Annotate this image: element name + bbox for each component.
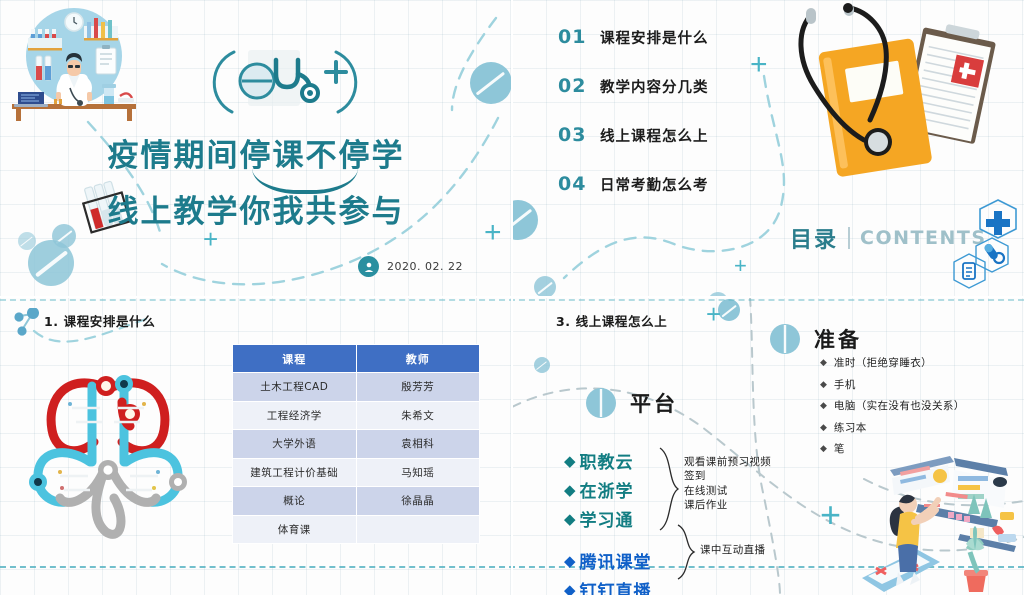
brace-group-b <box>676 523 698 581</box>
diamond-bullet-icon: ◆ <box>564 581 576 595</box>
platform-item[interactable]: ◆ 腾讯课堂 <box>564 546 652 575</box>
orange-book-clipboard-stethoscope-illustration <box>790 2 1002 200</box>
cell-teacher: 朱希文 <box>356 401 479 430</box>
prepare-item-label: 电脑（实在没有也没关系） <box>834 398 965 413</box>
contents-item-number: 02 <box>558 75 600 97</box>
platform-item[interactable]: ◆ 职教云 <box>564 446 652 475</box>
prepare-item-label: 笔 <box>834 441 845 456</box>
table-row: 土木工程CAD 殷芳芳 <box>233 373 480 402</box>
pill-decor <box>534 357 550 373</box>
pill-decor <box>718 299 740 321</box>
cell-teacher: 殷芳芳 <box>356 373 479 402</box>
cell-teacher: 袁相科 <box>356 430 479 459</box>
table-header-teacher: 教师 <box>356 345 479 373</box>
platform-item-label: 职教云 <box>580 448 634 473</box>
clipboard-icon <box>954 254 985 288</box>
table-row: 大学外语 袁相科 <box>233 430 480 459</box>
platform-item[interactable]: ◆ 钉钉直播 <box>564 575 652 595</box>
plus-decor: + <box>706 301 721 327</box>
cell-teacher: 马知瑶 <box>356 458 479 487</box>
pill-dot-icon <box>586 388 616 418</box>
table-row: 建筑工程计价基础 马知瑶 <box>233 458 480 487</box>
contents-item[interactable]: 02 教学内容分几类 <box>558 75 778 97</box>
diamond-bullet-icon: ◆ <box>564 481 576 499</box>
diamond-bullet-icon: ◆ <box>820 422 827 433</box>
prepare-heading: 准备 <box>770 324 862 354</box>
prepare-item-label: 手机 <box>834 377 856 392</box>
annotation-line: 观看课前预习视频 <box>684 455 771 469</box>
cell-course: 土木工程CAD <box>233 373 357 402</box>
cover-title-line2: 线上教学你我共参与 <box>0 186 512 231</box>
table-row: 体育课 <box>233 515 480 544</box>
annotation-line: 在线测试 <box>684 484 771 498</box>
prepare-item: ◆ 手机 <box>820 374 965 396</box>
diamond-bullet-icon: ◆ <box>564 510 576 528</box>
slide-cover: + + <box>0 0 512 297</box>
contents-item-label: 课程安排是什么 <box>600 27 709 48</box>
woman-online-learning-isometric-illustration <box>862 452 1024 595</box>
slide-divider-horizontal <box>0 296 1024 298</box>
contents-item-label: 日常考勤怎么考 <box>600 174 709 195</box>
diamond-bullet-icon: ◆ <box>820 357 827 368</box>
contents-item-number: 01 <box>558 26 600 48</box>
slides-overview: + + <box>0 0 1024 595</box>
contents-heading-cn: 目录 <box>790 222 838 254</box>
annotation-line: 课中互动直播 <box>700 543 765 557</box>
cell-course: 概论 <box>233 487 357 516</box>
person-icon <box>358 256 379 277</box>
platform-item-label: 钉钉直播 <box>580 577 652 595</box>
prepare-item-label: 准时（拒绝穿睡衣） <box>834 355 932 370</box>
table-row: 工程经济学 朱希文 <box>233 401 480 430</box>
section-label-online: 3. 线上课程怎么上 <box>556 311 667 330</box>
section-label-courses: 1. 课程安排是什么 <box>44 311 155 330</box>
prepare-item: ◆ 电脑（实在没有也没关系） <box>820 395 965 417</box>
prepare-item: ◆ 准时（拒绝穿睡衣） <box>820 352 965 374</box>
pill-dot-icon <box>770 324 800 354</box>
heading-separator <box>848 227 850 249</box>
cell-teacher: 徐晶晶 <box>356 487 479 516</box>
hexagon-icon-group <box>952 196 1024 296</box>
stethoscope-logo-icon <box>200 48 370 118</box>
platform-list: ◆ 职教云 ◆ 在浙学 ◆ 学习通 ◆ 腾讯课堂 ◆ 钉钉直播 <box>564 446 652 595</box>
contents-item-number: 04 <box>558 173 600 195</box>
platform-item-label: 在浙学 <box>580 477 634 502</box>
platform-heading-label: 平台 <box>630 388 678 418</box>
cell-teacher <box>356 515 479 544</box>
diamond-bullet-icon: ◆ <box>820 443 827 454</box>
table-header-course: 课程 <box>233 345 357 373</box>
slide-contents: + + 01 课程安排是什么 02 教学内容分几类 03 线上课程怎么上 04 … <box>512 0 1024 297</box>
prepare-item: ◆ 练习本 <box>820 417 965 439</box>
table-header-row: 课程 教师 <box>233 345 480 373</box>
contents-item[interactable]: 01 课程安排是什么 <box>558 26 778 48</box>
stethoscope-flower-illustration <box>18 352 198 544</box>
contents-item[interactable]: 04 日常考勤怎么考 <box>558 173 778 195</box>
brace-group-a <box>658 446 682 532</box>
cell-course: 建筑工程计价基础 <box>233 458 357 487</box>
diamond-bullet-icon: ◆ <box>564 552 576 570</box>
prepare-heading-label: 准备 <box>814 324 862 354</box>
contents-item-number: 03 <box>558 124 600 146</box>
prepare-list: ◆ 准时（拒绝穿睡衣） ◆ 手机 ◆ 电脑（实在没有也没关系） ◆ 练习本 ◆ … <box>820 352 965 460</box>
diamond-bullet-icon: ◆ <box>564 452 576 470</box>
prepare-item: ◆ 笔 <box>820 438 965 460</box>
annotation-group-a: 观看课前预习视频 签到 在线测试 课后作业 <box>684 455 771 513</box>
cell-course: 工程经济学 <box>233 401 357 430</box>
table-row: 概论 徐晶晶 <box>233 487 480 516</box>
plus-decor: + <box>820 497 841 533</box>
doctor-laboratory-illustration <box>8 4 140 126</box>
cover-date: 2020. 02. 22 <box>387 260 463 273</box>
course-table: 课程 教师 土木工程CAD 殷芳芳 工程经济学 朱希文 大学外语 袁相科 建筑工… <box>232 344 480 544</box>
cell-course: 大学外语 <box>233 430 357 459</box>
annotation-line: 课后作业 <box>684 498 771 512</box>
annotation-line: 签到 <box>684 469 771 483</box>
contents-item-label: 教学内容分几类 <box>600 76 709 97</box>
annotation-group-b: 课中互动直播 <box>700 543 765 557</box>
platform-item[interactable]: ◆ 学习通 <box>564 504 652 533</box>
platform-item-label: 学习通 <box>580 506 634 531</box>
platform-item[interactable]: ◆ 在浙学 <box>564 475 652 504</box>
contents-item[interactable]: 03 线上课程怎么上 <box>558 124 778 146</box>
cell-course: 体育课 <box>233 515 357 544</box>
prepare-item-label: 练习本 <box>834 420 867 435</box>
diamond-bullet-icon: ◆ <box>820 379 827 390</box>
platform-heading: 平台 <box>586 388 678 418</box>
diamond-bullet-icon: ◆ <box>820 400 827 411</box>
contents-item-label: 线上课程怎么上 <box>600 125 709 146</box>
cover-date-badge: 2020. 02. 22 <box>358 256 463 277</box>
contents-list: 01 课程安排是什么 02 教学内容分几类 03 线上课程怎么上 04 日常考勤… <box>558 26 778 222</box>
platform-item-label: 腾讯课堂 <box>580 548 652 573</box>
molecule-node-icon <box>14 308 48 336</box>
